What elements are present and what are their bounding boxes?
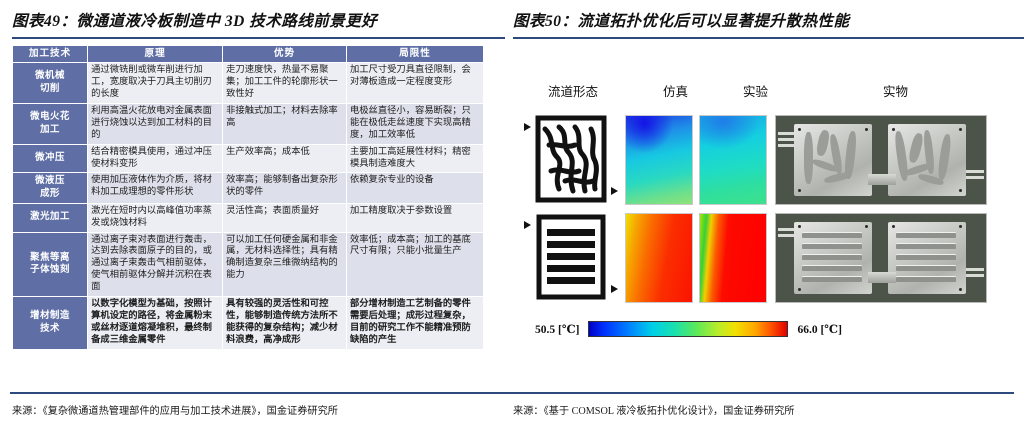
label-experiment: 实验 [743, 81, 768, 100]
topology-channel-svg [535, 115, 607, 203]
table-row: 增材制造技术以数字化模型为基础，按照计算机设定的路径，将金属粉末或丝材逐道熔凝堆… [13, 297, 484, 350]
simulation-heatmap-topology [625, 115, 693, 205]
figure-page: 图表49：微通道液冷板制造中 3D 技术路线前景更好 加工技术 原理 优势 局限… [0, 0, 1024, 433]
cell-limitation: 效率低；成本高；加工的基底尺寸有限；只能小批量生产 [346, 232, 483, 296]
cell-advantage: 走刀速度快，热量不易聚集；加工工件的轮廓形状一致性好 [223, 63, 347, 104]
experiment-heatmap-topology [699, 115, 767, 205]
cell-technology: 聚焦等离子体蚀刻 [13, 232, 88, 296]
colorbar-min-label: 50.5 [℃] [535, 322, 579, 336]
cell-principle: 利用高温火花放电对金属表面进行烧蚀以达到加工材料的目的 [88, 103, 223, 144]
cell-advantage: 效率高；能够制备出复杂形状的零件 [223, 173, 347, 203]
inlet-arrow-icon [524, 123, 531, 131]
table-row: 微电火花加工利用高温火花放电对金属表面进行烧蚀以达到加工材料的目的非接触式加工；… [13, 103, 484, 144]
column-header-tech: 加工技术 [13, 46, 88, 63]
temperature-colorbar-row: 50.5 [℃] 66.0 [℃] [513, 317, 1018, 341]
inlet-arrow-icon-2 [524, 221, 531, 229]
cell-advantage: 生产效率高；成本低 [223, 144, 347, 173]
plate-right-half-2 [888, 222, 966, 294]
cell-principle: 以数字化模型为基础，按照计算机设定的路径，将金属粉末或丝材逐道熔凝堆积，最终制备… [88, 297, 223, 350]
photo-cold-plate-topology [775, 115, 987, 205]
column-header-limitation: 局限性 [346, 46, 483, 63]
cell-principle: 使用加压液体作为介质，将材料加工成理想的零件形状 [88, 173, 223, 203]
source-note-left: 来源：《复杂微通道热管理部件的应用与加工技术进展》，国金证券研究所 [0, 402, 505, 417]
cell-principle: 通过离子束对表面进行轰击，达到去除表面原子的目的，或通过离子束轰击气相前驱体，使… [88, 232, 223, 296]
cell-principle: 结合精密模具使用，通过冲压使材料变形 [88, 144, 223, 173]
table-row: 微冲压结合精密模具使用，通过冲压使材料变形生产效率高；成本低主要加工高延展性材料… [13, 144, 484, 173]
cell-limitation: 主要加工高延展性材料；精密模具制造难度大 [346, 144, 483, 173]
cell-limitation: 加工精度取决于参数设置 [346, 203, 483, 232]
topology-channel-shape-icon [535, 115, 607, 203]
label-flow-shape: 流道形态 [548, 81, 598, 100]
cell-limitation: 部分增材制造工艺制备的零件需要后处理；成形过程复杂，目前的研究工作不能精准预防缺… [346, 297, 483, 350]
machining-technology-table: 加工技术 原理 优势 局限性 微机械切削通过微铣削或微车削进行加工，宽度取决于刀… [12, 45, 484, 350]
plate-left-half [794, 124, 872, 196]
figure-49-title: 图表49：微通道液冷板制造中 3D 技术路线前景更好 [12, 9, 505, 31]
label-simulation: 仿真 [663, 81, 688, 100]
cell-technology: 增材制造技术 [13, 297, 88, 350]
plate-bridge-2 [868, 272, 896, 283]
plate-left-half-2 [794, 222, 872, 294]
column-header-advantage: 优势 [223, 46, 347, 63]
footer: 来源：《复杂微通道热管理部件的应用与加工技术进展》，国金证券研究所 来源：《基于… [0, 392, 1024, 417]
figure-50-title: 图表50：流道拓扑优化后可以显著提升散热性能 [513, 9, 1024, 31]
cell-advantage: 可以加工任何硬金属和非金属，无材料选择性；具有精确制造复杂三维微纳结构的能力 [223, 232, 347, 296]
cell-advantage: 灵活性高；表面质量好 [223, 203, 347, 232]
cell-advantage: 非接触式加工；材料去除率高 [223, 103, 347, 144]
experiment-heatmap-straight [699, 213, 767, 303]
table-row: 聚焦等离子体蚀刻通过离子束对表面进行轰击，达到去除表面原子的目的，或通过离子束轰… [13, 232, 484, 296]
label-physical-object: 实物 [883, 81, 908, 100]
figure-grid [513, 113, 1018, 313]
cell-limitation: 依赖复杂专业的设备 [346, 173, 483, 203]
table-row: 激光加工激光在短时内以高峰值功率蒸发或烧蚀材料灵活性高；表面质量好加工精度取决于… [13, 203, 484, 232]
simulation-heatmap-straight [625, 213, 693, 303]
left-panel: 图表49：微通道液冷板制造中 3D 技术路线前景更好 加工技术 原理 优势 局限… [0, 0, 505, 433]
outlet-arrow-icon [611, 187, 618, 195]
cell-limitation: 电极丝直径小，容易断裂；只能在极低走丝速度下实现高精度，加工效率低 [346, 103, 483, 144]
table-row: 微机械切削通过微铣削或微车削进行加工，宽度取决于刀具主切削刃的长度走刀速度快，热… [13, 63, 484, 104]
plate-bridge [868, 174, 896, 185]
cell-technology: 微电火花加工 [13, 103, 88, 144]
colorbar-max-label: 66.0 [℃] [797, 322, 841, 336]
source-note-right: 来源：《基于 COMSOL 液冷板拓扑优化设计》，国金证券研究所 [505, 402, 1024, 417]
table-header-row: 加工技术 原理 优势 局限性 [13, 46, 484, 63]
plate-right-half [888, 124, 966, 196]
figure-column-labels: 流道形态 仿真 实验 实物 [513, 81, 1018, 107]
cell-advantage: 具有较强的灵活性和可控性，能够制造传统方法所不能获得的复杂结构；减少材料浪费，高… [223, 297, 347, 350]
cell-technology: 微液压成形 [13, 173, 88, 203]
cell-limitation: 加工尺寸受刀具直径限制，会对薄板造成一定程度变形 [346, 63, 483, 104]
straight-channel-svg [535, 213, 607, 301]
cell-technology: 微冲压 [13, 144, 88, 173]
cold-plate-figure: 流道形态 仿真 实验 实物 [513, 81, 1018, 411]
photo-cold-plate-straight [775, 213, 987, 303]
cell-principle: 通过微铣削或微车削进行加工，宽度取决于刀具主切削刃的长度 [88, 63, 223, 104]
column-header-principle: 原理 [88, 46, 223, 63]
cell-technology: 激光加工 [13, 203, 88, 232]
table-body: 微机械切削通过微铣削或微车削进行加工，宽度取决于刀具主切削刃的长度走刀速度快，热… [13, 63, 484, 349]
cell-principle: 激光在短时内以高峰值功率蒸发或烧蚀材料 [88, 203, 223, 232]
cell-technology: 微机械切削 [13, 63, 88, 104]
outlet-arrow-icon-2 [611, 285, 618, 293]
straight-channel-shape-icon [535, 213, 607, 301]
table-row: 微液压成形使用加压液体作为介质，将材料加工成理想的零件形状效率高；能够制备出复杂… [13, 173, 484, 203]
footer-rule [10, 392, 1014, 394]
temperature-colorbar [588, 321, 788, 337]
figure-49-title-rule [12, 37, 505, 39]
right-panel: 图表50：流道拓扑优化后可以显著提升散热性能 流道形态 仿真 实验 实物 [505, 0, 1024, 433]
figure-50-title-rule [513, 37, 1024, 39]
